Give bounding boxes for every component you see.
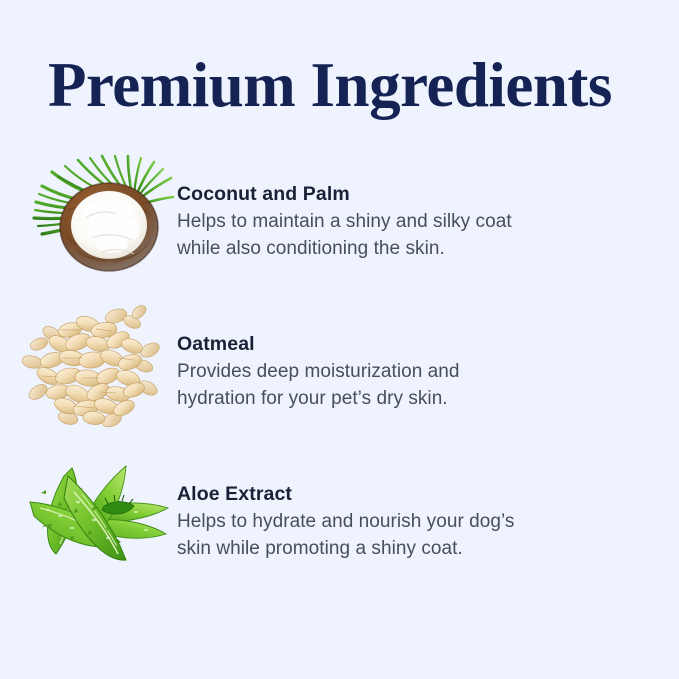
oat-flake-group bbox=[21, 303, 162, 430]
ingredient-description: Helps to maintain a shiny and silky coat… bbox=[177, 209, 627, 263]
coconut-half-with-palm-fronds-image bbox=[8, 150, 173, 280]
ingredient-name: Coconut and Palm bbox=[177, 182, 627, 206]
description-line: Helps to maintain a shiny and silky coat bbox=[177, 209, 627, 236]
description-line: hydration for your pet’s dry skin. bbox=[177, 386, 627, 413]
ingredient-text-block: Coconut and Palm Helps to maintain a shi… bbox=[177, 182, 627, 263]
list-item: Coconut and Palm Helps to maintain a shi… bbox=[0, 150, 679, 300]
ingredient-name: Oatmeal bbox=[177, 332, 627, 356]
oat-flakes-pile-image bbox=[8, 300, 173, 430]
ingredient-description: Provides deep moisturization and hydrati… bbox=[177, 359, 627, 413]
premium-ingredients-panel: Premium Ingredients bbox=[0, 0, 679, 679]
ingredient-description: Helps to hydrate and nourish your dog’s … bbox=[177, 509, 627, 563]
description-line: while also conditioning the skin. bbox=[177, 236, 627, 263]
ingredient-text-block: Aloe Extract Helps to hydrate and nouris… bbox=[177, 482, 627, 563]
ingredient-name: Aloe Extract bbox=[177, 482, 627, 506]
aloe-leaf-group bbox=[30, 466, 168, 560]
aloe-vera-leaves-image bbox=[8, 450, 173, 580]
page-title: Premium Ingredients bbox=[48, 52, 612, 118]
ingredient-list: Coconut and Palm Helps to maintain a shi… bbox=[0, 150, 679, 600]
list-item: Aloe Extract Helps to hydrate and nouris… bbox=[0, 450, 679, 600]
list-item: Oatmeal Provides deep moisturization and… bbox=[0, 300, 679, 450]
description-line: Provides deep moisturization and bbox=[177, 359, 627, 386]
ingredient-text-block: Oatmeal Provides deep moisturization and… bbox=[177, 332, 627, 413]
description-line: skin while promoting a shiny coat. bbox=[177, 536, 627, 563]
description-line: Helps to hydrate and nourish your dog’s bbox=[177, 509, 627, 536]
